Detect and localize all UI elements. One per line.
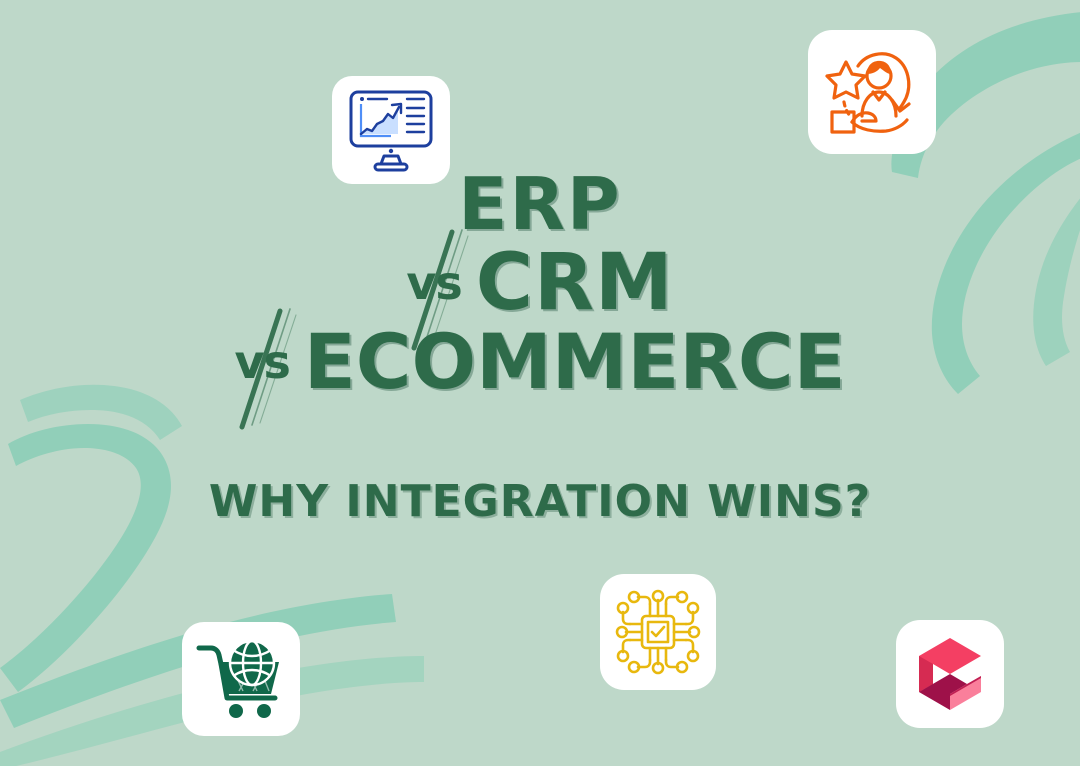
headline-block: ERP vs CRM vs xyxy=(0,168,1080,400)
vs-token-ecommerce: vs xyxy=(234,339,289,385)
headline-line-ecommerce: vs ECOMMERCE xyxy=(0,324,1080,400)
customer-satisfaction-icon xyxy=(822,44,922,140)
analytics-monitor-icon xyxy=(345,88,437,172)
ecommerce-cart-card xyxy=(182,622,300,736)
headline-word-crm: CRM xyxy=(476,244,674,322)
vs-label-crm: vs xyxy=(406,256,461,310)
headline-line-crm: vs CRM xyxy=(0,244,1080,322)
headline-word-erp: ERP xyxy=(458,168,621,240)
headline-line-erp: ERP xyxy=(0,168,1080,240)
brush-stroke-left-loop xyxy=(0,424,171,692)
brand-logo-card xyxy=(896,620,1004,728)
microchip-check-icon xyxy=(614,588,702,676)
integration-chip-card xyxy=(600,574,716,690)
shopping-cart-globe-icon xyxy=(195,636,287,722)
subtitle-text: WHY INTEGRATION WINS? xyxy=(0,476,1080,527)
brand-logo-icon xyxy=(913,634,987,714)
vs-token-crm: vs xyxy=(406,260,461,306)
crm-customer-card xyxy=(808,30,936,154)
headline-word-ecommerce: ECOMMERCE xyxy=(304,324,846,400)
poster-canvas: ERP vs CRM vs xyxy=(0,0,1080,766)
vs-label-ecommerce: vs xyxy=(234,335,289,389)
